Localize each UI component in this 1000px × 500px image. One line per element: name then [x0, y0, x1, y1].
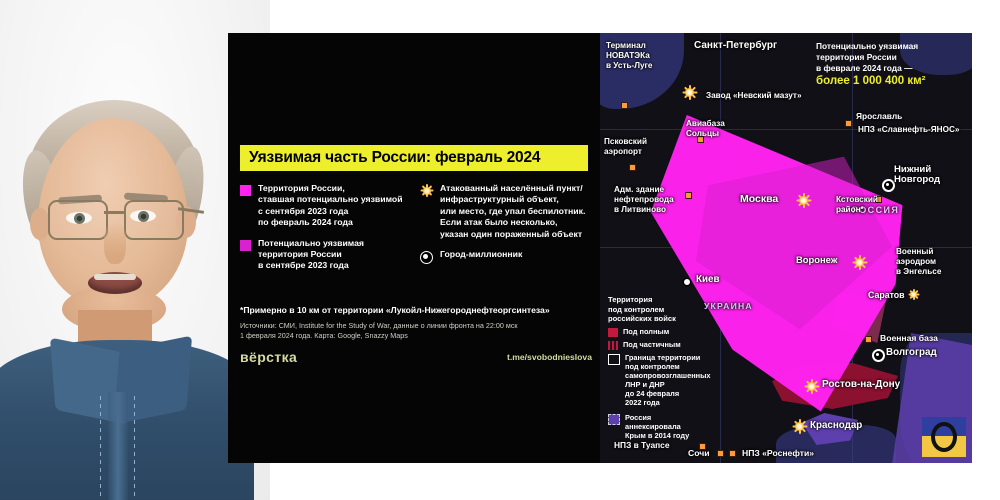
label-nevsky-mazut-plant: Завод «Невский мазут»	[706, 91, 802, 101]
telegram-link[interactable]: t.me/svobodnieslova	[507, 352, 592, 362]
teeth	[94, 274, 136, 280]
marker-saint-petersburg[interactable]	[682, 85, 697, 100]
label-moscow: Москва	[740, 194, 778, 204]
glasses-bridge	[104, 211, 124, 214]
map-legend-label: Граница территории под контролем самопро…	[625, 353, 711, 407]
label-slavneft-yanos-refinery: НПЗ «Славнефть-ЯНОС»	[858, 125, 959, 135]
marker-rosneft-refinery[interactable]	[730, 451, 735, 456]
label-voronezh: Воронеж	[796, 255, 837, 265]
marker-pskov-airport[interactable]	[630, 165, 635, 170]
marker-moscow[interactable]	[796, 193, 811, 208]
map-infobox: Потенциально уязвимая территория России …	[816, 41, 966, 87]
marker-military-base[interactable]	[866, 337, 871, 342]
label-military-base: Военная база	[880, 333, 938, 343]
label-engels-military-airfield: Военный аэродром в Энгельсе	[896, 247, 941, 277]
magenta-dark-swatch-icon	[240, 240, 251, 251]
badge-letter-o	[931, 422, 957, 452]
white-outline-box-icon	[608, 354, 620, 365]
label-soltsy-airbase: Авиабаза Сольцы	[686, 119, 725, 139]
magenta-bright-swatch-icon	[240, 185, 251, 196]
legend-column: Уязвимая часть России: февраль 2024 Терр…	[228, 33, 600, 463]
label-rosneft-refinery: НПЗ «Роснефти»	[742, 448, 814, 458]
mouth	[88, 272, 142, 294]
legend-columns: Территория России, ставшая потенциально …	[240, 183, 592, 281]
channel-badge-icon	[922, 417, 966, 457]
label-kyiv: Киев	[696, 275, 719, 285]
lens-left	[48, 200, 108, 240]
label-krasnodar: Краснодар	[810, 421, 862, 431]
brand-row: вёрстка t.me/svobodnieslova	[240, 349, 592, 365]
marker-volgograd[interactable]	[872, 349, 885, 362]
label-rostov-on-don: Ростов-на-Дону	[822, 380, 900, 390]
marker-sochi[interactable]	[718, 451, 723, 456]
marker-yaroslavl[interactable]	[846, 121, 851, 126]
label-volgograd: Волгоград	[886, 348, 937, 358]
stitch-left	[100, 396, 101, 500]
label-terminal-novatek-ust-luga: Терминал НОВАТЭКа в Усть-Луге	[606, 41, 652, 71]
label-yaroslavl: Ярославль	[856, 111, 902, 121]
marker-terminal-novatek-ust-luga[interactable]	[622, 103, 627, 108]
map-legend: Территория под контролем российских войс…	[608, 295, 718, 440]
hatched-red-swatch-icon	[608, 341, 618, 350]
marker-voronezh[interactable]	[852, 255, 867, 270]
map-legend-label: Под частичным	[623, 340, 681, 349]
marker-saratov[interactable]	[908, 289, 919, 300]
purple-dashed-swatch-icon	[608, 414, 620, 425]
label-kstovsky-district: Кстовский район*	[836, 195, 878, 215]
label-nizhny-novgorod: Нижний Новгород	[894, 165, 940, 185]
label-sochi: Сочи	[688, 448, 710, 458]
shirt-placket	[108, 392, 128, 500]
burst-icon	[420, 184, 433, 197]
footnote: *Примерно в 10 км от территории «Лукойл-…	[240, 305, 592, 315]
sources-note: Источники: СМИ, Institute for the Study …	[240, 321, 592, 340]
label-pskov-airport: Псковский аэропорт	[604, 137, 647, 157]
map-legend-title: Территория под контролем российских войс…	[608, 295, 718, 324]
ear-left	[30, 208, 50, 240]
label-saint-petersburg: Санкт-Петербург	[694, 41, 777, 51]
legend-item-attacked-site: Атакованный населённый пункт/ инфраструк…	[420, 183, 592, 240]
screenshot-stage: Уязвимая часть России: февраль 2024 Терр…	[0, 0, 1000, 500]
legend-column-right: Атакованный населённый пункт/ инфраструк…	[420, 183, 592, 281]
infobox-highlight: более 1 000 400 км²	[816, 75, 966, 87]
marker-rostov-on-don[interactable]	[804, 379, 819, 394]
infobox-text: Потенциально уязвимая территория России …	[816, 41, 966, 74]
map-legend-row-lnr-dnr: Граница территории под контролем самопро…	[608, 353, 718, 407]
label-tuapse-refinery: НПЗ в Туапсе	[614, 440, 670, 450]
solid-red-swatch-icon	[608, 328, 618, 337]
infographic-title-bar: Уязвимая часть России: февраль 2024	[240, 145, 588, 171]
legend-item-label: Атакованный населённый пункт/ инфраструк…	[440, 183, 585, 240]
map-legend-row-crimea: Россия аннексировала Крым в 2014 году	[608, 413, 718, 440]
legend-item-label: Территория России, ставшая потенциально …	[258, 183, 403, 229]
lens-right	[124, 200, 184, 240]
legend-column-left: Территория России, ставшая потенциально …	[240, 183, 410, 281]
stitch-right	[134, 396, 135, 500]
legend-item-new-territory: Территория России, ставшая потенциально …	[240, 183, 410, 229]
label-litvinovo-pipeline-building: Адм. здание нефтепровода в Литвиново	[614, 185, 674, 215]
marker-kyiv[interactable]	[684, 279, 690, 285]
legend-item-label: Город-миллионник	[440, 249, 522, 264]
map-legend-row-partial: Под частичным	[608, 340, 718, 350]
infographic-panel: Уязвимая часть России: февраль 2024 Терр…	[228, 33, 972, 463]
map-legend-label: Под полным	[623, 327, 669, 336]
legend-item-label: Потенциально уязвимая территория России …	[258, 238, 364, 272]
legend-item-old-territory: Потенциально уязвимая территория России …	[240, 238, 410, 272]
legend-block: Территория России, ставшая потенциально …	[240, 183, 592, 281]
marker-krasnodar[interactable]	[792, 419, 807, 434]
label-saratov: Саратов	[868, 290, 905, 300]
map-panel[interactable]: Терминал НОВАТЭКа в Усть-Луге Санкт-Пете…	[600, 33, 972, 463]
marker-litvinovo-pipeline-building[interactable]	[686, 193, 691, 198]
nose	[104, 222, 126, 264]
map-legend-row-full: Под полным	[608, 327, 718, 337]
map-legend-label: Россия аннексировала Крым в 2014 году	[625, 413, 689, 440]
legend-item-million-city: Город-миллионник	[420, 249, 592, 264]
ring-dot-icon	[420, 251, 433, 264]
brand-logo: вёрстка	[240, 349, 297, 365]
page-title: Уязвимая часть России: февраль 2024	[249, 149, 540, 167]
